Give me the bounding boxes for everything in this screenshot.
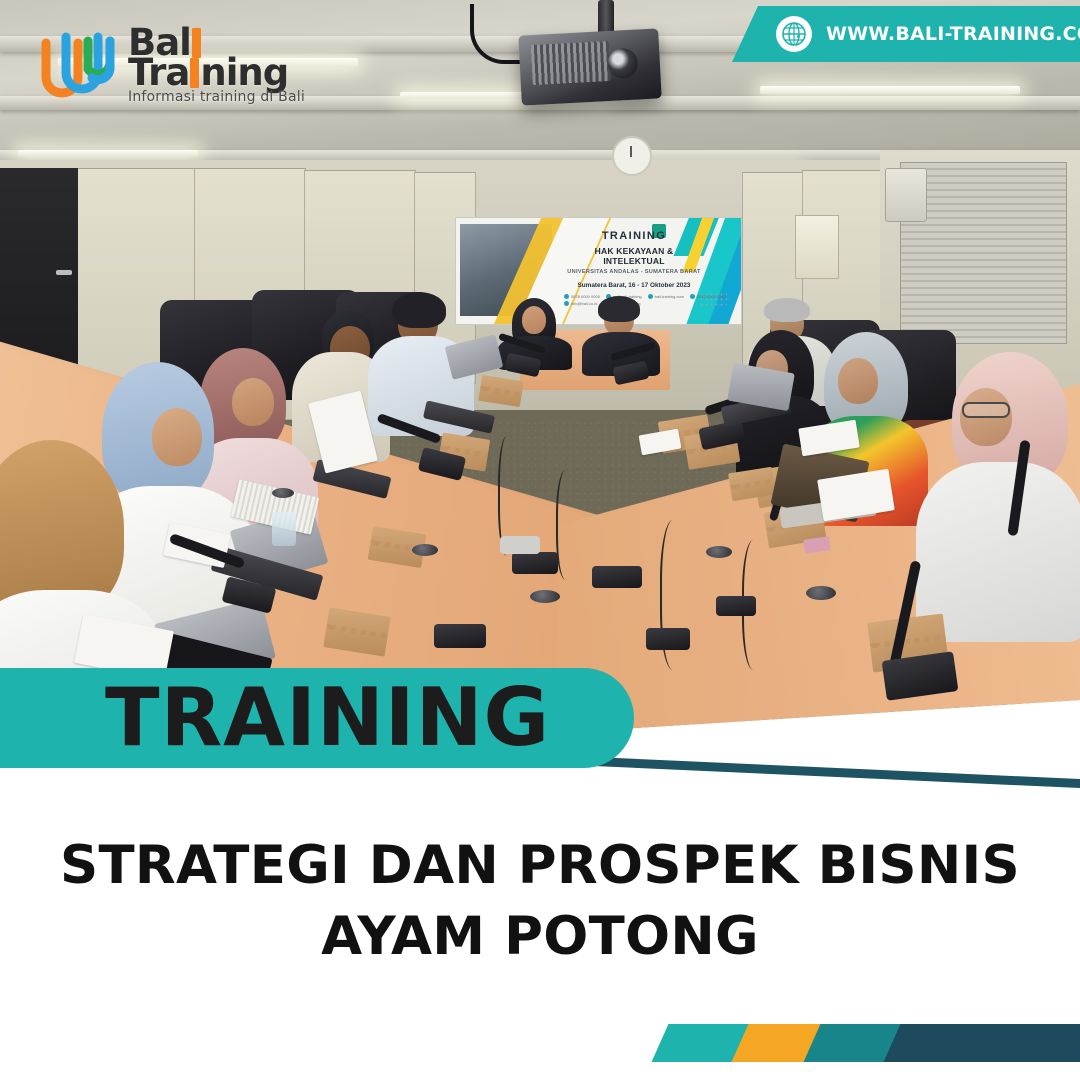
banner-text-group: TRAINING HAK KEKAYAAN & INTELEKTUAL UNIV… [564,230,704,289]
floor-connector [716,596,756,616]
contact-icon [648,294,653,299]
contact-icon [564,294,569,299]
contact-icon [564,301,569,306]
brand-tagline: Informasi training di Bali [128,92,305,103]
banner-subtitle: HAK KEKAYAAN & INTELEKTUAL [564,246,704,266]
floor-connector [592,566,642,588]
brand-logo[interactable]: Bal Traning Informasi training di Bali [36,28,305,103]
contact-icon [690,294,695,299]
floor-connector [434,624,486,648]
head [152,408,202,466]
hair [764,298,810,322]
glasses-icon [962,402,1010,418]
brand-line-2-suffix: ning [200,51,288,94]
table-port [806,586,836,600]
brand-line-2-text: Tra [128,51,189,94]
ceiling-projector [518,28,661,105]
table-port [272,488,294,498]
brand-line-2: Traning [128,58,305,88]
logo-svg [36,29,120,103]
floor-cable [556,470,580,580]
brand-text: Bal Traning Informasi training di Bali [128,28,305,103]
globe-svg [781,21,807,47]
head [838,358,878,404]
contact-label: 0878 0000 0000 [571,294,600,299]
door-handle [56,270,72,275]
banner-contact-item: bali-training.com [648,294,684,299]
title-line-2: AYAM POTONG [0,901,1080,972]
banner-contact-item: 0813 0000 0000 [690,294,726,299]
ac-unit [885,168,927,222]
head [232,378,274,426]
drinking-glass [272,512,296,546]
table-port [412,544,438,556]
logo-i-bar-icon [190,58,199,88]
training-label: TRAINING [105,678,550,758]
wall-clock [612,136,652,176]
floor-connector [500,536,540,554]
head [522,306,546,334]
bali-training-logo-icon [36,29,120,103]
floor-connector [512,552,558,574]
banner-date: Sumatera Barat, 16 - 17 Oktober 2023 [564,282,704,289]
hair [392,292,446,328]
poster-root: TRAINING HAK KEKAYAAN & INTELEKTUAL UNIV… [0,0,1080,1080]
contact-label: bali-training.com [655,294,684,299]
page-title: STRATEGI DAN PROSPEK BISNIS AYAM POTONG [0,830,1080,972]
contact-label: info@bali.co.id [571,301,597,306]
website-url-text: WWW.BALI-TRAINING.COM [826,23,1080,45]
website-banner[interactable]: WWW.BALI-TRAINING.COM [732,6,1080,62]
footer-bars [0,1024,1080,1062]
banner-contact-item: info@bali.co.id [564,301,597,306]
banner-title: TRAINING [564,230,704,242]
banner-contact-item: 0878 0000 0000 [564,294,600,299]
hair [598,296,640,322]
title-line-1: STRATEGI DAN PROSPEK BISNIS [0,830,1080,901]
table-port [530,590,560,603]
table-port [706,546,732,558]
wall-notice [795,215,839,279]
banner-contacts: 0878 0000 0000 cs@bali-training bali-tra… [564,294,732,306]
banner-org: UNIVERSITAS ANDALAS - SUMATERA BARAT [564,269,704,275]
globe-icon [776,16,812,52]
contact-label: 0813 0000 0000 [697,294,726,299]
ceiling-light [760,86,1020,94]
training-banner-pill: TRAINING [0,668,634,768]
ceiling-light [18,150,198,156]
bar-navy [884,1024,1080,1062]
floor-connector [646,628,690,650]
